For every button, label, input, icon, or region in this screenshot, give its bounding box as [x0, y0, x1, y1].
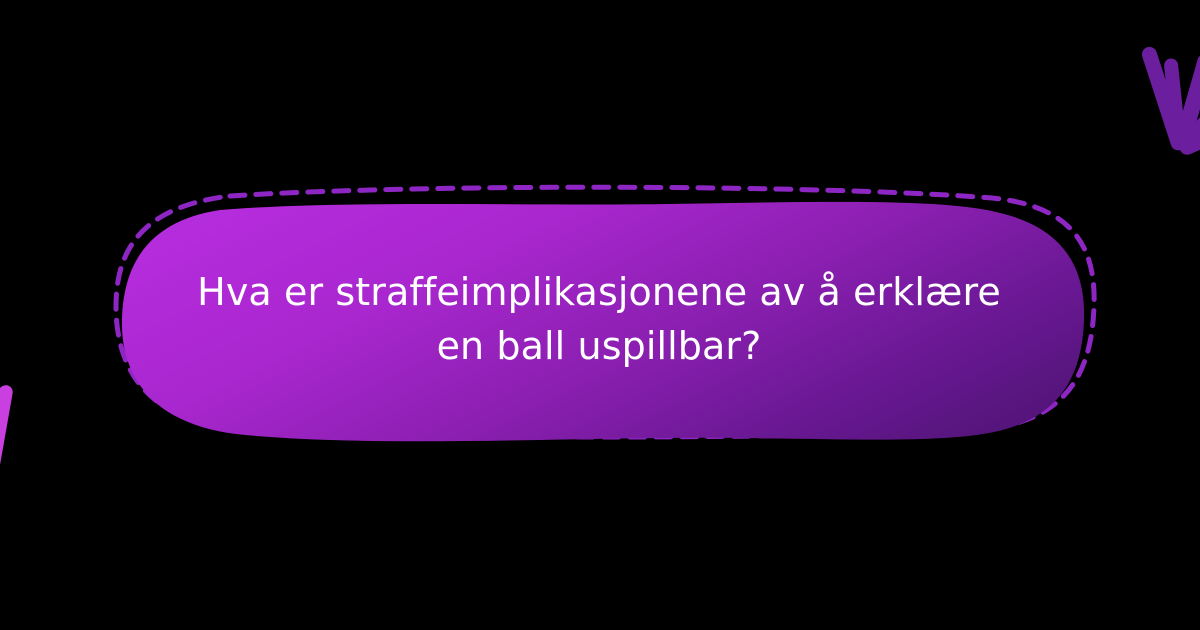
question-card: Hva er straffeimplikasjonene av å erklær…	[104, 186, 1098, 444]
question-card-graphic: Hva er straffeimplikasjonene av å erklær…	[0, 0, 1200, 630]
card-question-text: Hva er straffeimplikasjonene av å erklær…	[164, 196, 1034, 444]
